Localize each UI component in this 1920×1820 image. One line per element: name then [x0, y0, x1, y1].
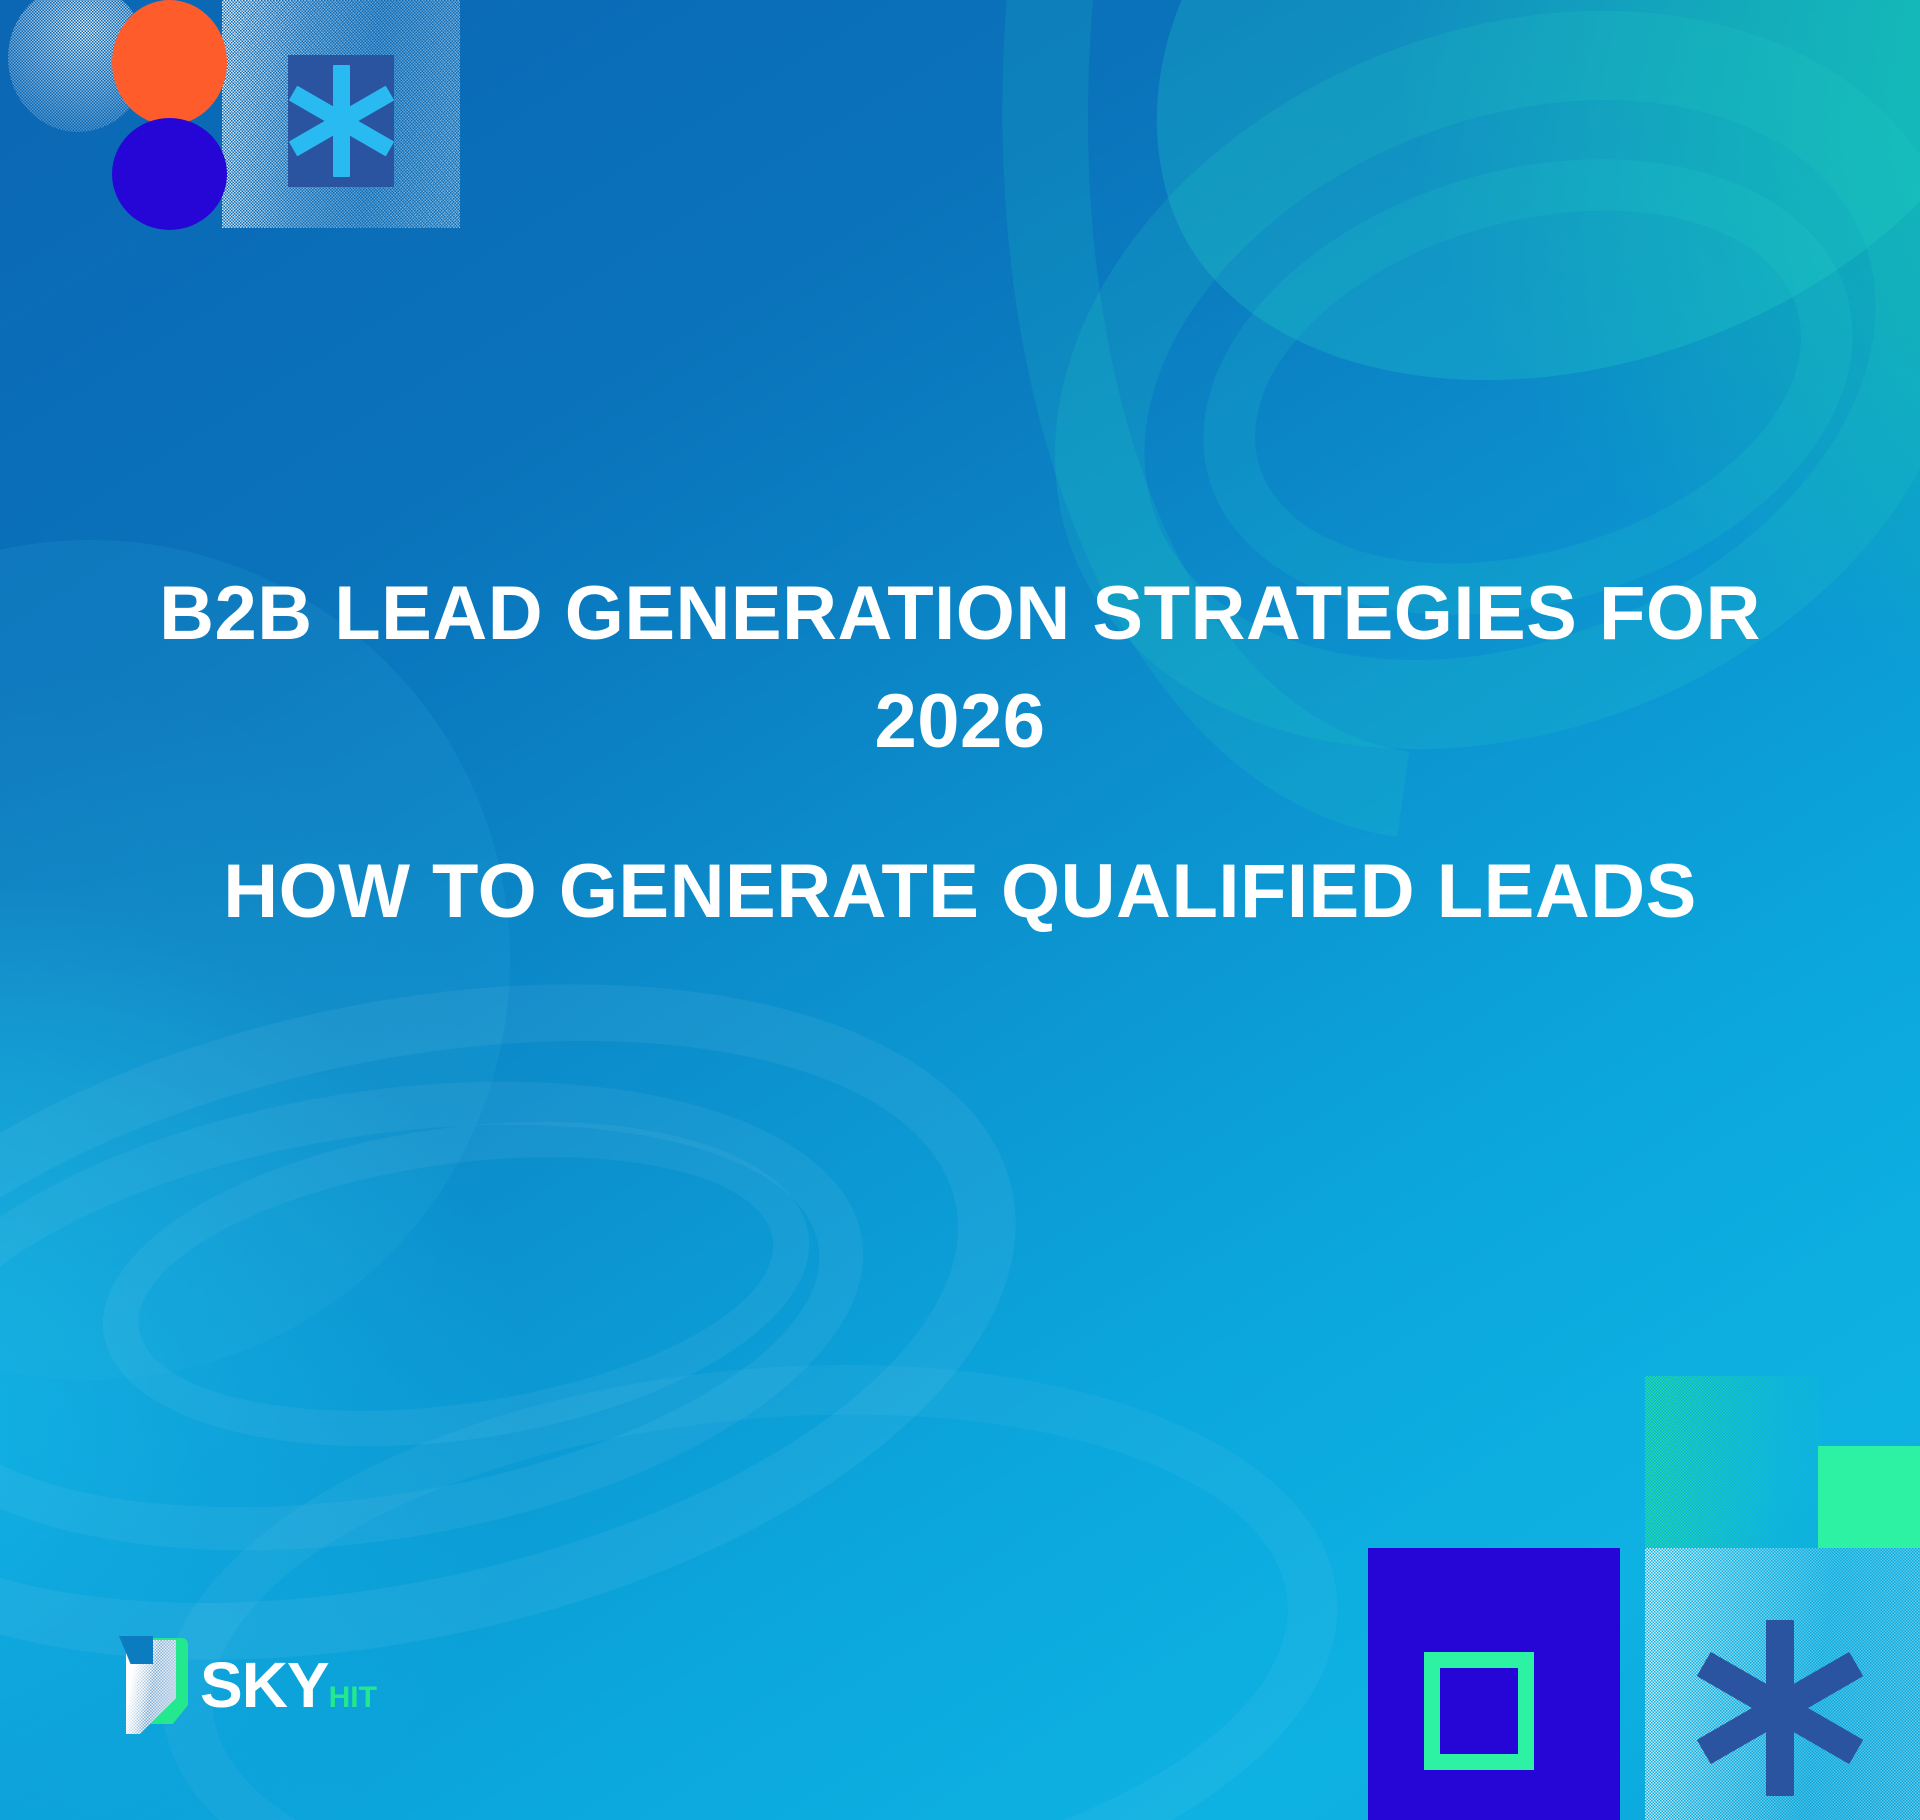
swirl-bottom-left-ring-3 — [82, 1080, 830, 1488]
orange-circle — [112, 0, 227, 125]
brand-name-secondary: HIT — [329, 1683, 377, 1717]
noise-panel-bottom-right — [1645, 1548, 1920, 1820]
green-square-outline — [1424, 1652, 1534, 1770]
logo-notch — [119, 1636, 153, 1664]
asterisk-backdrop-box — [288, 55, 394, 187]
green-rectangle — [1818, 1446, 1920, 1548]
brand-name-primary: SKY — [200, 1653, 329, 1717]
brand-logo-text: SKY HIT — [200, 1653, 377, 1717]
green-noise-panel — [1645, 1376, 1821, 1548]
blue-circle — [112, 118, 227, 230]
title-line-secondary: HOW TO GENERATE QUALIFIED LEADS — [70, 838, 1850, 946]
swirl-top-right-blob — [1063, 0, 1920, 483]
page-title: B2B LEAD GENERATION STRATEGIES FOR 2026 … — [0, 560, 1920, 946]
skyhit-arrow-mark-icon — [108, 1636, 192, 1734]
swirl-bottom-left-ring-4 — [133, 1310, 1366, 1820]
swirl-bottom-left-ring-2 — [0, 1017, 897, 1614]
title-line-primary: B2B LEAD GENERATION STRATEGIES FOR 2026 — [70, 560, 1850, 776]
swirl-bottom-left-ring-1 — [0, 879, 1078, 1764]
brand-logo[interactable]: SKY HIT — [108, 1636, 377, 1734]
green-noise-grain — [1645, 1376, 1821, 1548]
noise-panel-bottom-right-grain — [1645, 1548, 1920, 1820]
slide-canvas: B2B LEAD GENERATION STRATEGIES FOR 2026 … — [0, 0, 1920, 1820]
